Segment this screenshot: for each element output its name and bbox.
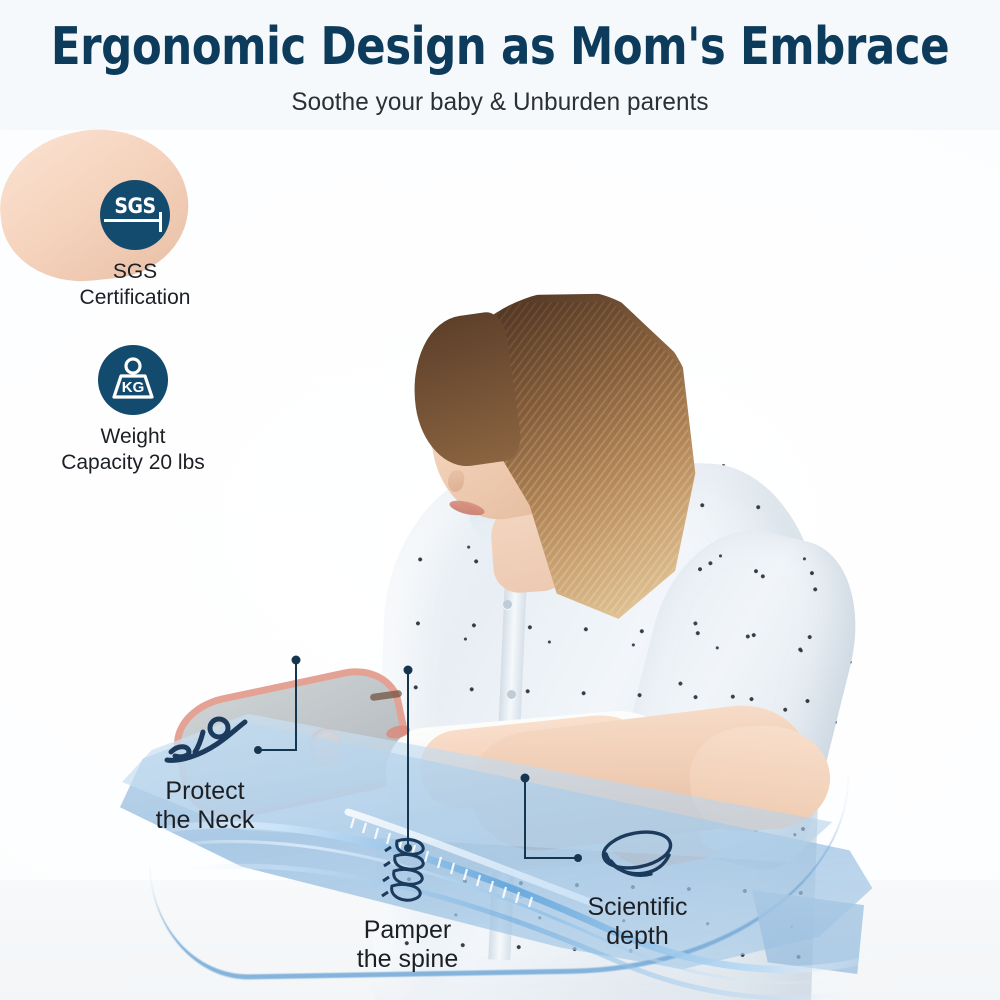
sgs-tick-mark [159, 212, 162, 232]
weight-kg-icon: KG [98, 345, 168, 415]
sgs-underline [104, 219, 162, 222]
callout-scientific-depth: Scientific depth [545, 828, 730, 951]
blouse-button [503, 600, 512, 609]
page-subtitle: Soothe your baby & Unburden parents [15, 88, 985, 117]
reclining-baby-neck-support-icon [159, 712, 251, 768]
badge-weight-label: Weight Capacity 20 lbs [18, 424, 248, 476]
callout-pamper-the-spine: Pamper the spine [315, 835, 500, 974]
svg-text:KG: KG [122, 379, 145, 396]
page-title: Ergonomic Design as Mom's Embrace [35, 20, 965, 75]
callout-protect-the-neck: Protect the Neck [110, 712, 300, 835]
sgs-logo-icon: SGS [100, 180, 170, 250]
badge-sgs-label: SGS Certification [20, 259, 250, 311]
callout-neck-label: Protect the Neck [110, 777, 300, 835]
header: Ergonomic Design as Mom's Embrace Soothe… [0, 0, 1000, 117]
badge-weight-capacity: KG Weight Capacity 20 lbs [18, 345, 248, 476]
sgs-logo-text: SGS [104, 194, 166, 218]
badge-sgs-certification: SGS SGS Certification [20, 180, 250, 311]
callout-depth-label: Scientific depth [545, 893, 730, 951]
weight-kg-glyph: KG [109, 357, 157, 403]
ellipse-depth-bowl-icon [595, 828, 681, 884]
vertebrae-spine-icon [375, 835, 441, 907]
blouse-button [507, 690, 516, 699]
callout-spine-label: Pamper the spine [315, 916, 500, 974]
product-infographic: Ergonomic Design as Mom's Embrace Soothe… [0, 0, 1000, 1000]
